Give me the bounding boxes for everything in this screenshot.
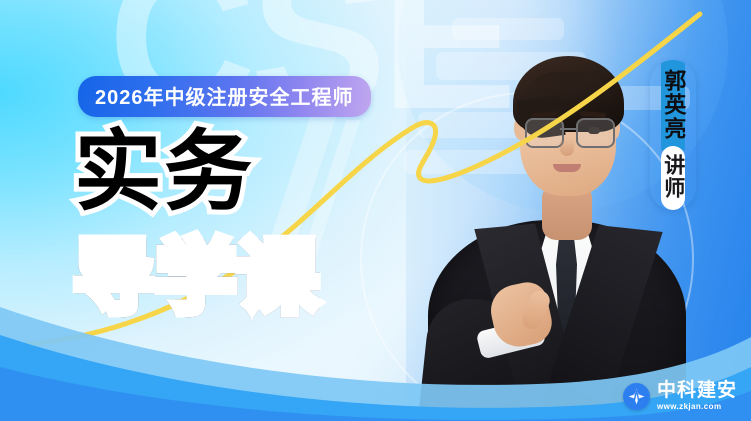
- title-line-2: 导学课: [74, 238, 320, 318]
- instructor-name: 郭英亮: [661, 60, 686, 150]
- glasses-lens-right: [576, 118, 615, 148]
- logo-url: www.zkjan.com: [657, 403, 737, 411]
- mouth: [553, 164, 581, 172]
- logo-mark-icon: [623, 383, 650, 410]
- course-badge: 2026年中级注册安全工程师: [78, 76, 371, 117]
- brand-logo: 中科建安 www.zkjan.com: [623, 381, 737, 411]
- instructor-name-badge: 郭英亮 讲师: [650, 60, 696, 210]
- title-line-1: 实务: [74, 128, 320, 216]
- glasses-lens-left: [525, 118, 564, 148]
- title-group: 实务 导学课: [74, 128, 320, 318]
- course-poster: CSE 2026年中级注册安全工程师: [0, 0, 751, 421]
- nose: [560, 138, 574, 156]
- background-pane: [452, 18, 564, 40]
- glasses-bridge: [560, 128, 576, 130]
- logo-brand-name: 中科建安: [657, 381, 737, 400]
- instructor-role: 讲师: [661, 146, 685, 210]
